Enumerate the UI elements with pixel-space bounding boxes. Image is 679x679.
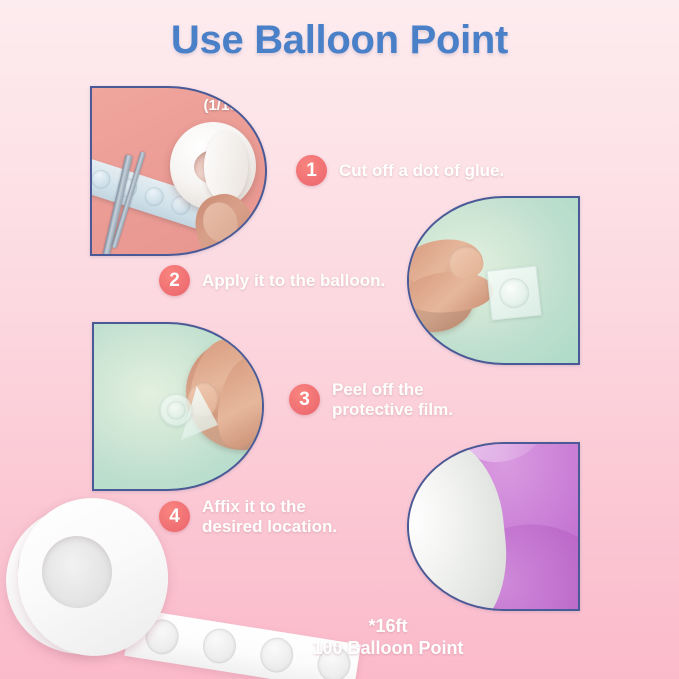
- step-4: 4 Affix it to the desired location.: [159, 497, 337, 536]
- step-3: 3 Peel off the protective film.: [289, 380, 453, 419]
- product-caption: *16ft 100 Balloon Point: [238, 615, 538, 660]
- photo-balloons-joined: [409, 444, 578, 609]
- step-image-panel-4: [407, 442, 580, 611]
- step-image-panel-2: [407, 196, 580, 365]
- step-1: 1 Cut off a dot of glue.: [296, 155, 504, 186]
- step-number-badge: 1: [296, 155, 327, 186]
- glue-dot: [142, 185, 166, 209]
- step-image-panel-3: [92, 322, 264, 491]
- step-number-badge: 4: [159, 501, 190, 532]
- step-image-panel-1: (1/100): [90, 86, 267, 256]
- product-length-label: *16ft: [238, 615, 538, 637]
- step-label: Cut off a dot of glue.: [339, 161, 504, 181]
- page-title: Use Balloon Point: [0, 18, 679, 63]
- infographic-poster: Use Balloon Point (1/100): [0, 0, 679, 679]
- step-label: Peel off the protective film.: [332, 380, 453, 419]
- glue-dot-square: [487, 266, 542, 321]
- photo-hand-applying-dot: [409, 198, 578, 363]
- tape-roll-rim-graphic: [204, 132, 248, 202]
- glue-dot: [90, 167, 113, 191]
- glue-dot: [200, 626, 238, 666]
- step-number-badge: 3: [289, 384, 320, 415]
- step-number-badge: 2: [159, 265, 190, 296]
- step-label: Affix it to the desired location.: [202, 497, 337, 536]
- step-label: Apply it to the balloon.: [202, 271, 385, 291]
- step-2: 2 Apply it to the balloon.: [159, 265, 385, 296]
- photo-hand-peeling-film: [94, 324, 262, 489]
- panel-quantity-caption: (1/100): [203, 97, 251, 114]
- glue-dot-on-balloon: [160, 394, 192, 426]
- product-quantity-label: 100 Balloon Point: [238, 637, 538, 659]
